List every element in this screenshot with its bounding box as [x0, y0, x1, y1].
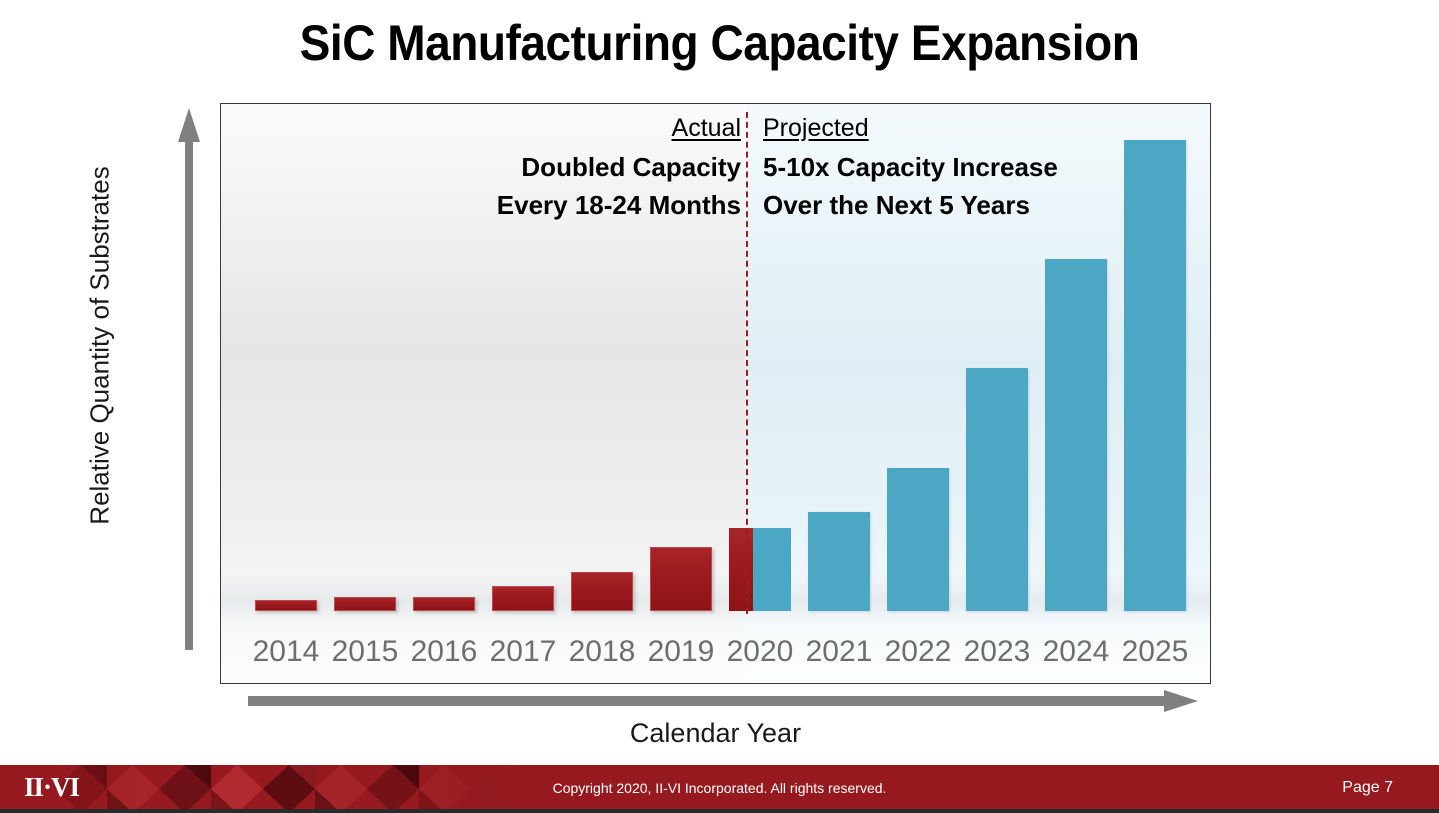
annotation-projected-heading: Projected	[763, 114, 1183, 143]
year-label-2014: 2014	[250, 635, 322, 669]
page-title: SiC Manufacturing Capacity Expansion	[58, 14, 1382, 72]
bar-2021	[808, 512, 870, 611]
year-label-2023: 2023	[961, 635, 1033, 669]
year-label-2021: 2021	[803, 635, 875, 669]
year-label-2020: 2020	[724, 635, 796, 669]
annotation-actual-heading: Actual	[451, 114, 741, 143]
footer-copyright: Copyright 2020, II-VI Incorporated. All …	[0, 780, 1439, 796]
year-label-2016: 2016	[408, 635, 480, 669]
year-label-2015: 2015	[329, 635, 401, 669]
footer-page-number: Page 7	[1342, 779, 1393, 797]
year-label-2017: 2017	[487, 635, 559, 669]
bar-2024	[1045, 259, 1107, 611]
bar-2020	[729, 528, 791, 611]
arrow-up-icon	[178, 108, 200, 650]
year-label-2024: 2024	[1040, 635, 1112, 669]
bar-2019	[650, 547, 712, 611]
year-label-2025: 2025	[1119, 635, 1191, 669]
annotation-projected-line1: 5-10x Capacity Increase	[763, 149, 1183, 187]
slide-footer: II·VI Copyright 2020, II-VI Incorporated…	[0, 765, 1439, 813]
bar-2017	[492, 586, 554, 611]
year-label-2019: 2019	[645, 635, 717, 669]
footer-bottom-rule	[0, 809, 1439, 813]
bar-2020-projected-part	[753, 528, 791, 611]
year-label-2018: 2018	[566, 635, 638, 669]
bar-2018	[571, 572, 633, 611]
chart-plot-area: Actual Doubled Capacity Every 18-24 Mont…	[220, 103, 1211, 684]
y-axis-label: Relative Quantity of Substrates	[85, 86, 116, 606]
annotation-actual-line2: Every 18-24 Months	[451, 187, 741, 225]
x-axis-label: Calendar Year	[220, 718, 1211, 749]
bar-2014	[255, 600, 317, 611]
year-label-2022: 2022	[882, 635, 954, 669]
actual-projected-divider	[746, 112, 748, 614]
annotation-projected: Projected 5-10x Capacity Increase Over t…	[763, 114, 1183, 224]
annotation-actual: Actual Doubled Capacity Every 18-24 Mont…	[451, 114, 741, 224]
bar-2023	[966, 368, 1028, 611]
annotation-projected-line2: Over the Next 5 Years	[763, 187, 1183, 225]
bar-2016	[413, 597, 475, 611]
bar-2022	[887, 468, 949, 611]
arrow-right-icon	[248, 690, 1198, 712]
bar-2020-actual-part	[729, 528, 753, 611]
x-axis-tick-labels: 2014 2015 2016 2017 2018 2019 2020 2021 …	[221, 625, 1210, 669]
bar-2015	[334, 597, 396, 611]
annotation-actual-line1: Doubled Capacity	[451, 149, 741, 187]
